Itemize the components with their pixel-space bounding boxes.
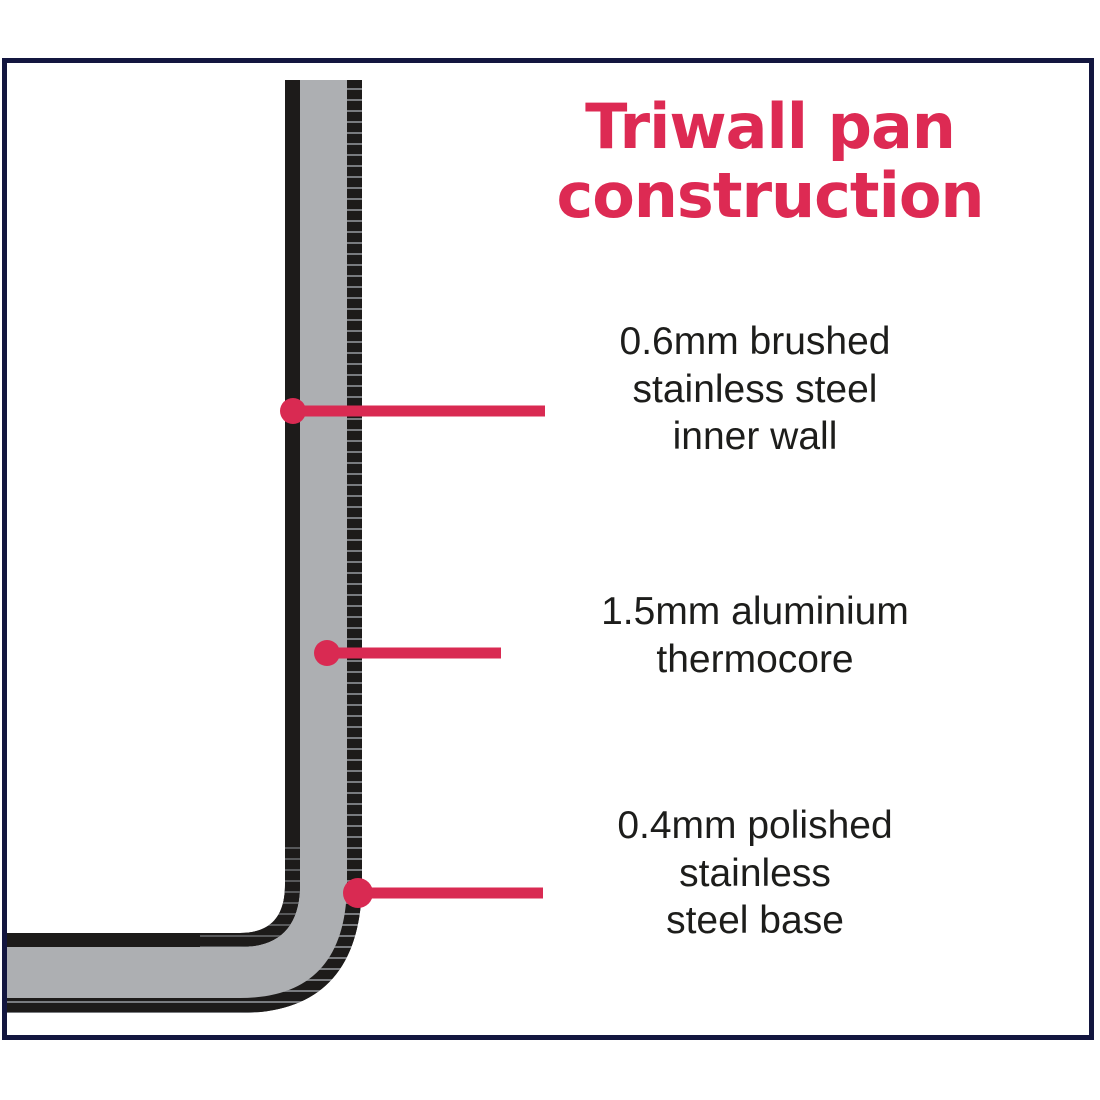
callout-label-steel-base: 0.4mm polished stainless steel base <box>520 802 990 945</box>
page-title-line-2: construction <box>500 161 1040 230</box>
infographic-canvas: Triwall pan construction 0.6mm brushed s… <box>0 0 1100 1100</box>
callout-3-line-2: stainless <box>520 850 990 898</box>
callout-3-line-1: 0.4mm polished <box>520 802 990 850</box>
callout-3-line-3: steel base <box>520 897 990 945</box>
callout-2-line-2: thermocore <box>505 636 1005 684</box>
leader-marker-thermocore <box>314 640 340 666</box>
page-title: Triwall pan construction <box>500 92 1040 231</box>
callout-label-thermocore: 1.5mm aluminium thermocore <box>505 588 1005 683</box>
leader-marker-inner-wall <box>280 398 306 424</box>
callout-1-line-1: 0.6mm brushed <box>520 318 990 366</box>
inner-stainless-wall-layer <box>0 80 300 947</box>
callout-1-line-3: inner wall <box>520 413 990 461</box>
callout-label-inner-wall: 0.6mm brushed stainless steel inner wall <box>520 318 990 461</box>
callout-1-line-2: stainless steel <box>520 366 990 414</box>
page-title-line-1: Triwall pan <box>500 92 1040 161</box>
leader-marker-steel-base <box>343 878 373 908</box>
callout-2-line-1: 1.5mm aluminium <box>505 588 1005 636</box>
inner-corner-hatch <box>200 840 300 947</box>
